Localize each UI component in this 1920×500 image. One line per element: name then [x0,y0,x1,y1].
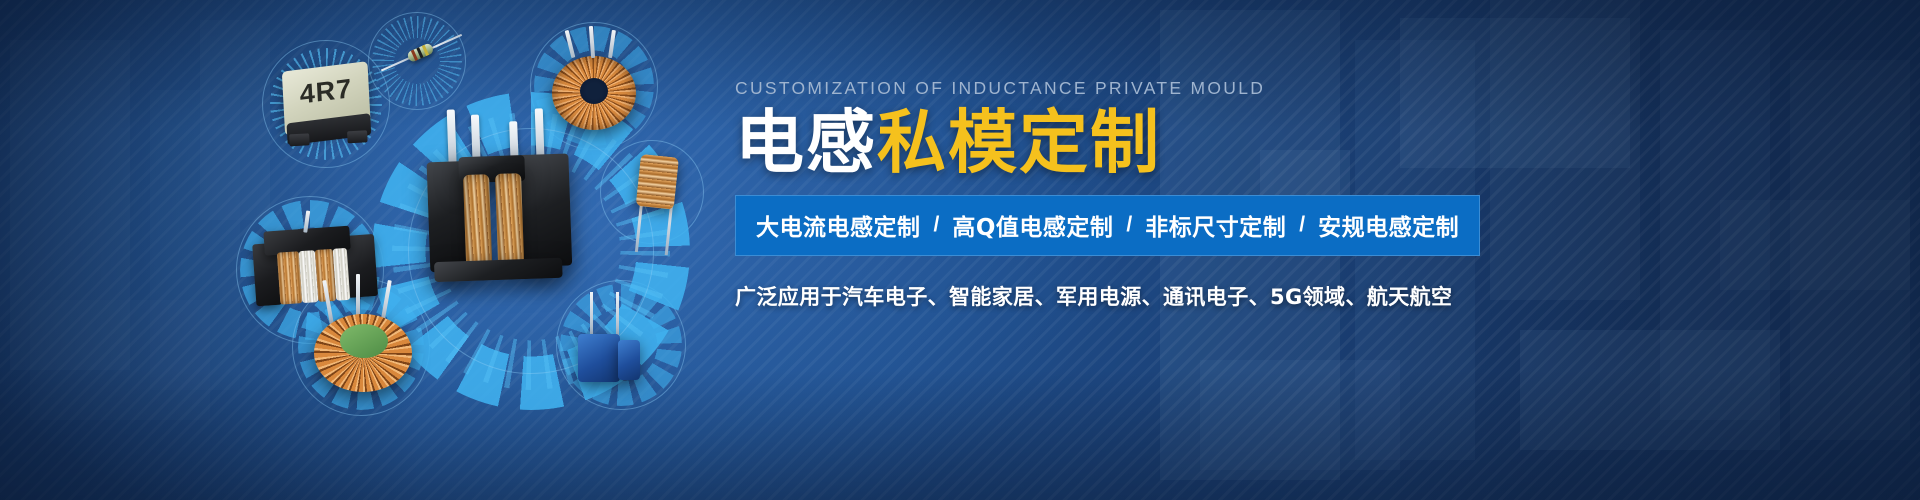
rod-lead [635,202,643,252]
radial-body-side [618,340,640,380]
product-dual-coil-power-inductor [409,105,584,301]
feature-separator: / [934,213,940,237]
radial-body [578,334,620,382]
toroid-green-core [340,324,388,358]
feature-item-0: 大电流电感定制 [756,208,921,242]
banner-headline: 电感私模定制 [735,106,1585,181]
product-rod-core-choke [617,149,699,260]
inductor-body-right [518,153,572,267]
smd-foot [289,133,310,146]
banner-kicker: CUSTOMIZATION OF INDUCTANCE PRIVATE MOUL… [735,78,1585,99]
headline-accent: 私模定制 [877,103,1161,183]
feature-item-1: 高Q值电感定制 [952,208,1113,242]
inductor-copper-coil-b [495,173,524,268]
feature-item-2: 非标尺寸定制 [1145,208,1286,242]
feature-item-3: 安规电感定制 [1318,208,1459,242]
promotional-banner: 4R7 [0,0,1920,500]
radial-lead [590,292,593,338]
radial-lead [616,292,619,338]
feature-separator: / [1126,213,1132,237]
rod-lead [665,205,673,255]
toroid-center-hole [580,78,608,104]
axial-lead [381,57,411,72]
headline-primary: 电感 [735,103,877,183]
axial-lead [432,34,462,49]
inductor-foot [434,258,563,282]
product-smd-power-inductor: 4R7 [282,63,387,160]
banner-applications-line: 广泛应用于汽车电子、智能家居、军用电源、通讯电子、5G领域、航天航空 [735,281,1585,311]
product-blue-radial-inductor [572,292,654,396]
feature-bar-inner: 大电流电感定制 / 高Q值电感定制 / 非标尺寸定制 / 安规电感定制 [756,208,1459,242]
banner-text-block: CUSTOMIZATION OF INDUCTANCE PRIVATE MOUL… [735,78,1585,311]
inductor-copper-coil-a [463,174,492,269]
feature-bar: 大电流电感定制 / 高Q值电感定制 / 非标尺寸定制 / 安规电感定制 [735,195,1480,256]
product-green-toroid-choke [306,290,422,400]
feature-separator: / [1299,213,1305,237]
rod-winding [636,154,679,210]
smd-foot [347,130,368,143]
